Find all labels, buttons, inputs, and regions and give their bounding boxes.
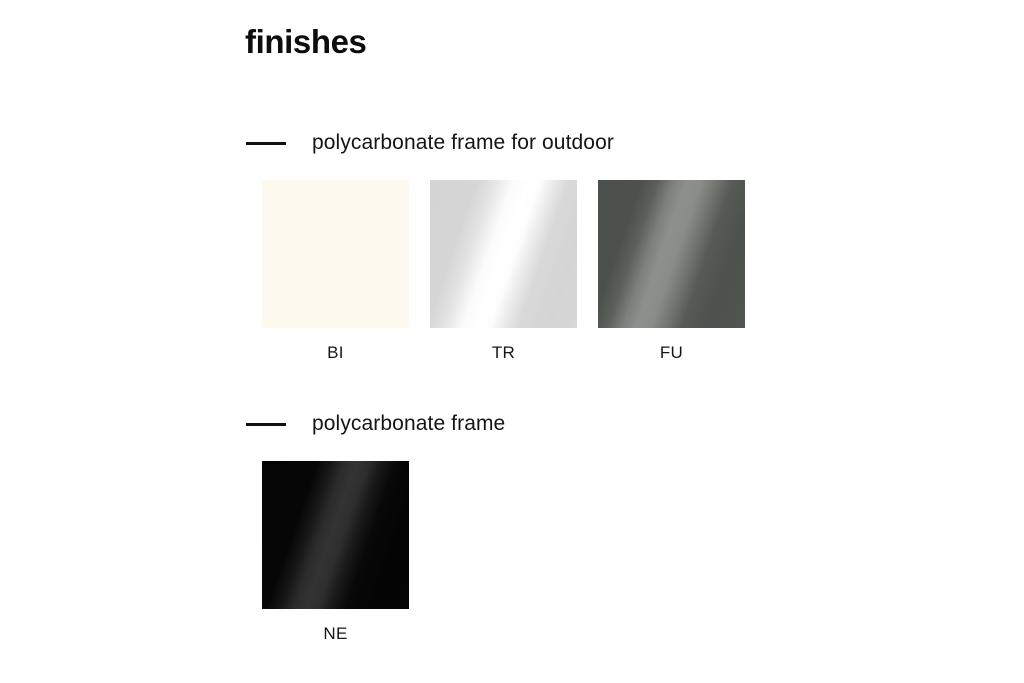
- color-swatch-fu[interactable]: [598, 180, 745, 328]
- swatch-row-standard: NE: [262, 461, 409, 644]
- section-header-outdoor: polycarbonate frame for outdoor: [246, 131, 614, 155]
- dash-icon: [246, 423, 286, 426]
- swatch-cell-fu[interactable]: FU: [598, 180, 745, 363]
- color-swatch-tr[interactable]: [430, 180, 577, 328]
- swatch-label-fu: FU: [660, 343, 683, 363]
- section-label-outdoor: polycarbonate frame for outdoor: [312, 131, 614, 155]
- section-label-standard: polycarbonate frame: [312, 412, 505, 436]
- dash-icon: [246, 142, 286, 145]
- swatch-cell-bi[interactable]: BI: [262, 180, 409, 363]
- section-header-standard: polycarbonate frame: [246, 412, 505, 436]
- swatch-label-bi: BI: [327, 343, 344, 363]
- finishes-sheet: finishes polycarbonate frame for outdoor…: [0, 0, 1024, 683]
- page-title: finishes: [245, 22, 367, 62]
- color-swatch-ne[interactable]: [262, 461, 409, 609]
- swatch-cell-tr[interactable]: TR: [430, 180, 577, 363]
- swatch-row-outdoor: BI TR FU: [262, 180, 745, 363]
- swatch-cell-ne[interactable]: NE: [262, 461, 409, 644]
- color-swatch-bi[interactable]: [262, 180, 409, 328]
- swatch-label-tr: TR: [492, 343, 515, 363]
- swatch-label-ne: NE: [323, 624, 347, 644]
